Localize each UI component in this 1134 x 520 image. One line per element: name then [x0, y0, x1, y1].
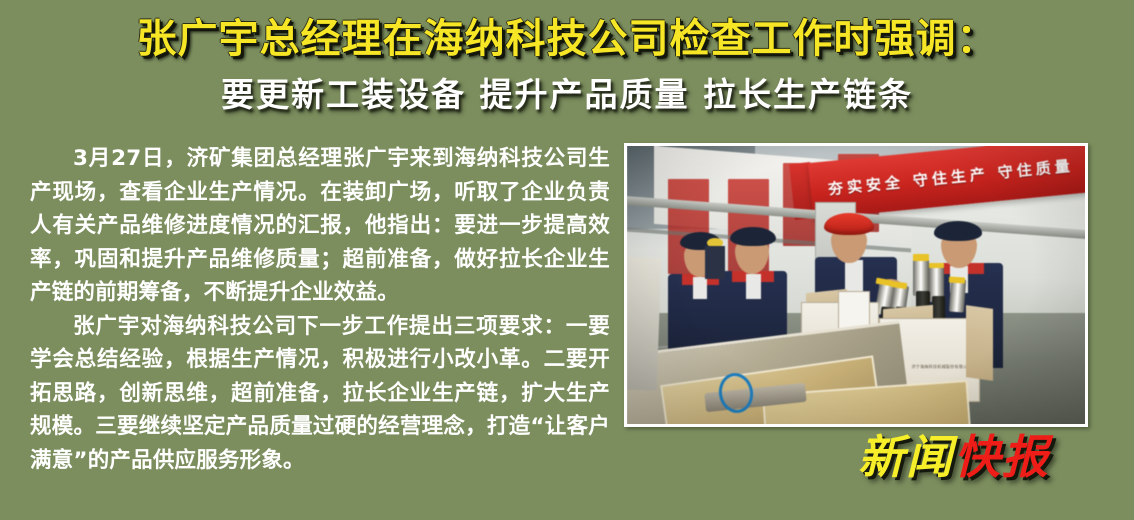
photo-left-panel	[627, 257, 661, 392]
brand-logo: 新闻快报	[858, 430, 1050, 484]
photo-carton-2-label: 济宁海纳科技机械股份有限公司	[911, 364, 971, 370]
news-poster: 张广宇总经理在海纳科技公司检查工作时强调： 要更新工装设备 提升产品质量 拉长生…	[0, 0, 1134, 520]
article-paragraph-2: 张广宇对海纳科技公司下一步工作提出三项要求：一要学会总结经验，根据生产情况，积极…	[30, 310, 610, 478]
photo-product-cap-5	[949, 276, 965, 283]
photo-person-2-cap	[730, 227, 776, 246]
photo-product-cylinder-5	[949, 279, 966, 313]
page-title: 张广宇总经理在海纳科技公司检查工作时强调：	[0, 17, 1134, 61]
photo-product-cap-4	[929, 263, 945, 269]
photo-person-distant-body	[705, 246, 726, 279]
photo-person-4-cap	[934, 221, 982, 240]
news-photo: 夯实安全 守住生产 守住质量	[627, 146, 1085, 424]
photo-banner-text: 夯实安全 守住生产 守住质量	[827, 152, 1085, 199]
article-body: 3月27日，济矿集团总经理张广宇来到海纳科技公司生产现场，查看企业生产情况。在装…	[30, 142, 610, 477]
photo-person-2-shirt	[746, 274, 761, 299]
brand-logo-part-2: 快报	[954, 430, 1050, 484]
article-paragraph-1: 3月27日，济矿集团总经理张广宇来到海纳科技公司生产现场，查看企业生产情况。在装…	[30, 142, 610, 310]
page-subtitle: 要更新工装设备 提升产品质量 拉长生产链条	[0, 76, 1134, 114]
photo-carton-2-side-flap	[966, 305, 993, 381]
news-photo-frame: 夯实安全 守住生产 守住质量	[624, 143, 1088, 427]
photo-product-cap-3	[913, 254, 929, 260]
brand-logo-part-1: 新闻	[858, 430, 954, 484]
photo-person-1-shirt	[693, 277, 707, 299]
